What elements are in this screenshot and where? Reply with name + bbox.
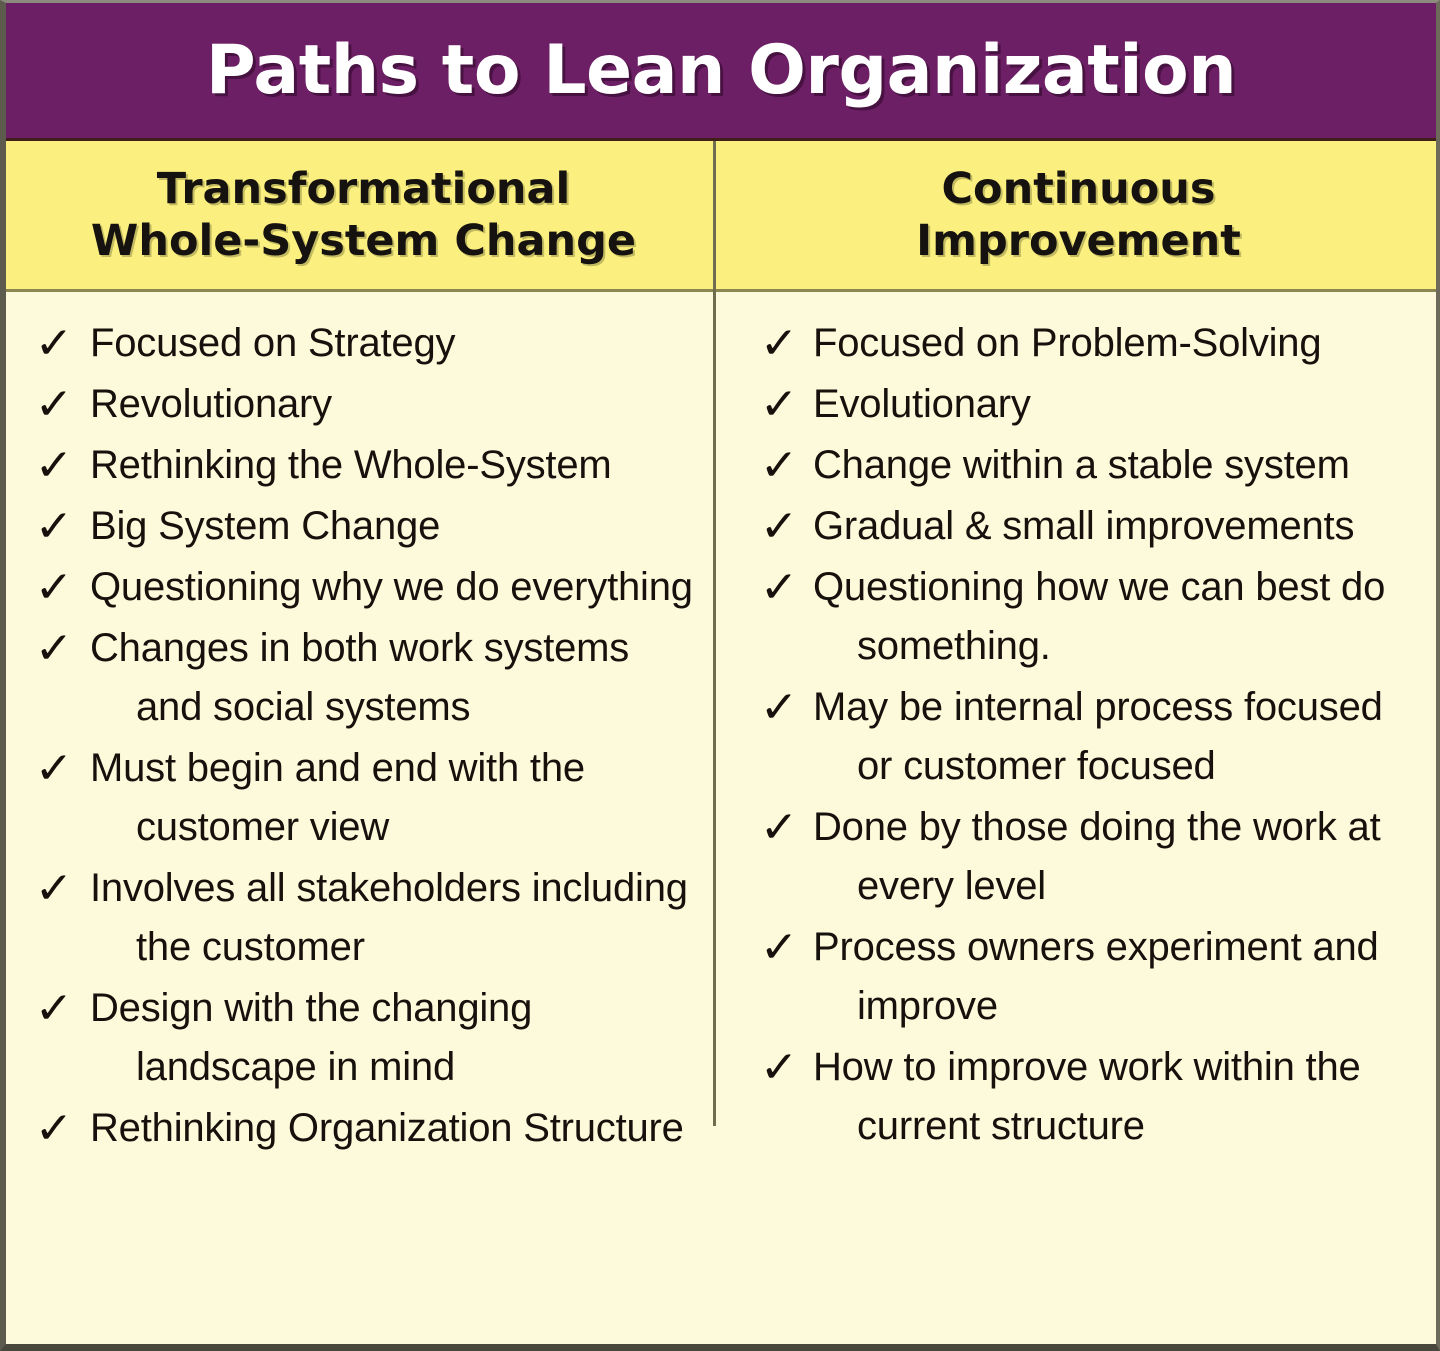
list-item-label: Must begin and end with the customer vie… <box>90 739 705 857</box>
list-item: ✓ Focused on Problem-Solving <box>761 314 1418 373</box>
check-icon: ✓ <box>760 375 815 434</box>
check-icon: ✓ <box>35 558 92 617</box>
list-item: ✓ Must begin and end with the customer v… <box>36 739 705 857</box>
list-item: ✓ Process owners experiment and improve <box>761 918 1418 1036</box>
check-icon: ✓ <box>35 619 92 678</box>
column-header-continuous-improvement: Continuous Improvement <box>721 141 1436 289</box>
check-icon: ✓ <box>760 497 815 556</box>
list-item: ✓ Focused on Strategy <box>36 314 705 373</box>
list-item-label: Focused on Strategy <box>90 314 705 373</box>
check-icon: ✓ <box>35 497 92 556</box>
list-item: ✓ Design with the changing landscape in … <box>36 979 705 1097</box>
column-header-continuous-improvement-label: Continuous Improvement <box>916 163 1241 268</box>
list-item-label: How to improve work within the current s… <box>813 1038 1418 1156</box>
list-item-label: Rethinking Organization Structure <box>90 1099 705 1158</box>
header-line-1: Transformational <box>157 164 571 214</box>
list-item: ✓ Questioning how we can best do somethi… <box>761 558 1418 676</box>
list-item: ✓ Involves all stakeholders including th… <box>36 859 705 977</box>
list-item-label: Gradual & small improvements <box>813 497 1418 556</box>
list-item: ✓ Revolutionary <box>36 375 705 434</box>
check-icon: ✓ <box>760 558 815 617</box>
column-continuous-improvement-items: ✓ Focused on Problem-Solving ✓ Evolution… <box>721 292 1436 1344</box>
paths-to-lean-organization-infographic: Paths to Lean Organization Transformatio… <box>0 0 1440 1351</box>
column-transformational-items: ✓ Focused on Strategy ✓ Revolutionary ✓ … <box>6 292 721 1344</box>
list-item-label: Rethinking the Whole-System <box>90 436 705 495</box>
header-line-1: Continuous <box>942 164 1216 214</box>
check-icon: ✓ <box>760 798 815 857</box>
list-item: ✓ Questioning why we do everything <box>36 558 705 617</box>
header-line-2: Improvement <box>916 216 1241 266</box>
check-icon: ✓ <box>35 436 92 495</box>
list-item: ✓ Rethinking Organization Structure <box>36 1099 705 1158</box>
column-header-transformational: Transformational Whole-System Change <box>6 141 721 289</box>
list-item-label: Change within a stable system <box>813 436 1418 495</box>
check-icon: ✓ <box>35 739 92 798</box>
check-icon: ✓ <box>760 314 815 373</box>
list-item-label: May be internal process focused or custo… <box>813 678 1418 796</box>
list-item: ✓ Evolutionary <box>761 375 1418 434</box>
list-item: ✓ Change within a stable system <box>761 436 1418 495</box>
check-icon: ✓ <box>760 436 815 495</box>
header-line-2: Whole-System Change <box>91 216 636 266</box>
list-item: ✓ Changes in both work systems and socia… <box>36 619 705 737</box>
list-item: ✓ Gradual & small improvements <box>761 497 1418 556</box>
list-item-label: Revolutionary <box>90 375 705 434</box>
list-item: ✓ Rethinking the Whole-System <box>36 436 705 495</box>
column-headers: Transformational Whole-System Change Con… <box>6 141 1436 292</box>
check-icon: ✓ <box>760 678 815 737</box>
title-band: Paths to Lean Organization <box>6 3 1436 141</box>
list-item-label: Focused on Problem-Solving <box>813 314 1418 373</box>
column-header-transformational-label: Transformational Whole-System Change <box>91 163 636 268</box>
list-item: ✓ Done by those doing the work at every … <box>761 798 1418 916</box>
check-icon: ✓ <box>35 375 92 434</box>
check-icon: ✓ <box>35 979 92 1038</box>
comparison-columns: ✓ Focused on Strategy ✓ Revolutionary ✓ … <box>6 292 1436 1344</box>
check-icon: ✓ <box>35 1099 92 1158</box>
check-icon: ✓ <box>35 314 92 373</box>
list-item: ✓ May be internal process focused or cus… <box>761 678 1418 796</box>
check-icon: ✓ <box>35 859 92 918</box>
list-item-label: Evolutionary <box>813 375 1418 434</box>
list-item-label: Questioning why we do everything <box>90 558 705 617</box>
list-item-label: Big System Change <box>90 497 705 556</box>
list-item-label: Changes in both work systems and social … <box>90 619 705 737</box>
page-title: Paths to Lean Organization <box>206 37 1236 105</box>
list-item-label: Design with the changing landscape in mi… <box>90 979 705 1097</box>
list-item-label: Process owners experiment and improve <box>813 918 1418 1036</box>
check-icon: ✓ <box>760 1038 815 1097</box>
check-icon: ✓ <box>760 918 815 977</box>
list-item-label: Questioning how we can best do something… <box>813 558 1418 676</box>
list-item-label: Done by those doing the work at every le… <box>813 798 1418 916</box>
list-item-label: Involves all stakeholders including the … <box>90 859 705 977</box>
list-item: ✓ Big System Change <box>36 497 705 556</box>
list-item: ✓ How to improve work within the current… <box>761 1038 1418 1156</box>
